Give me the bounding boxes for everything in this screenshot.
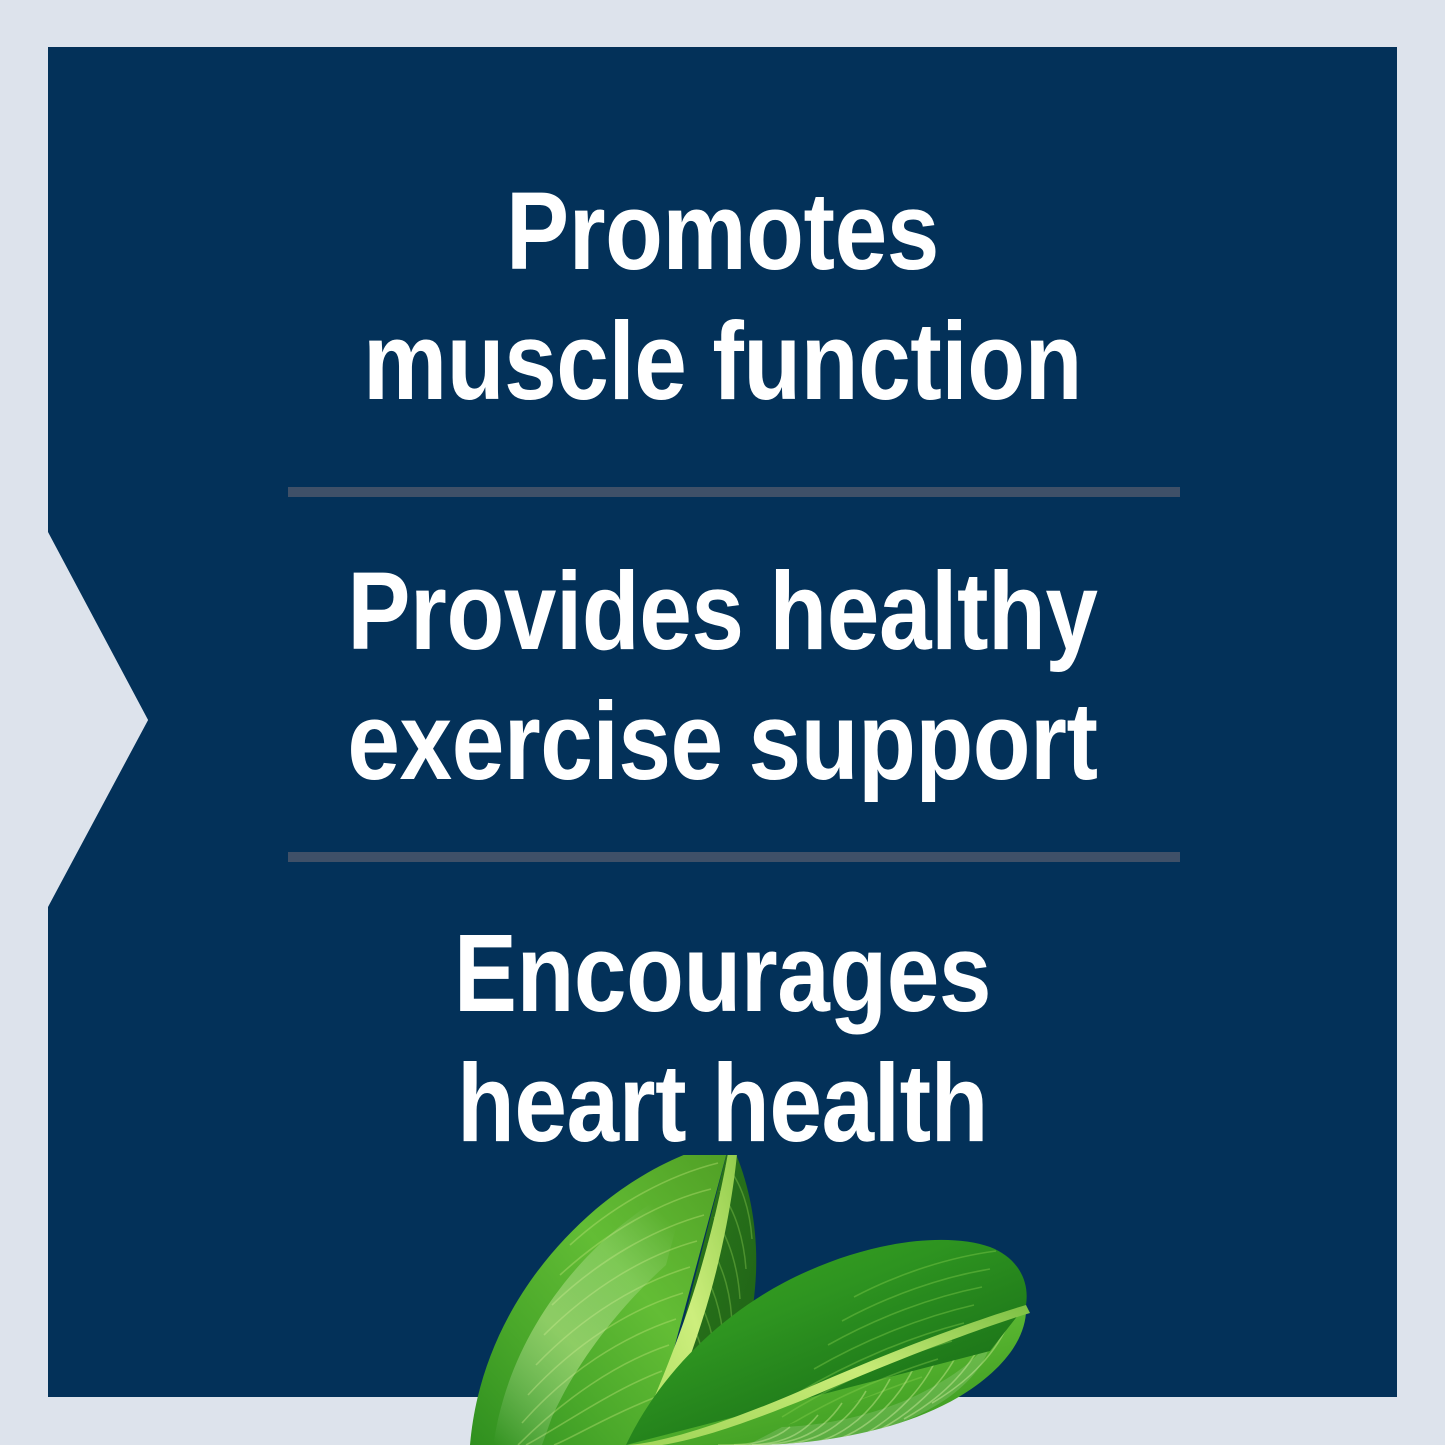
benefit-item-2: Provides healthy exercise support — [142, 547, 1302, 807]
benefit-item-1: Promotes muscle function — [142, 167, 1302, 427]
benefits-content: Promotes muscle function Provides health… — [48, 47, 1397, 1397]
benefit-item-3: Encourages heart health — [142, 909, 1302, 1169]
benefit-divider-1 — [288, 487, 1180, 497]
benefit-callout-graphic: Promotes muscle function Provides health… — [0, 0, 1445, 1445]
benefit-divider-2 — [288, 852, 1180, 862]
